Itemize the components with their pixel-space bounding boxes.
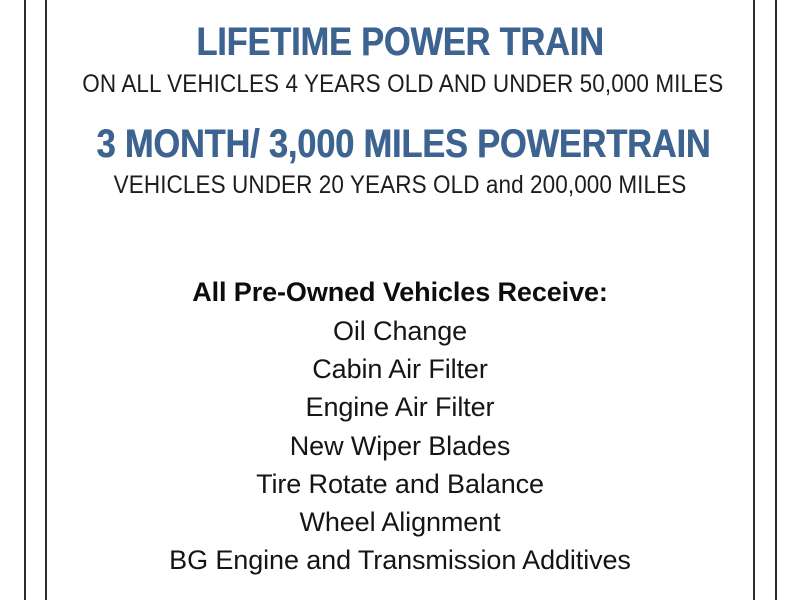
lifetime-powertrain-subline: ON ALL VEHICLES 4 YEARS OLD AND UNDER 50… bbox=[82, 70, 717, 98]
list-item: BG Engine and Transmission Additives bbox=[47, 541, 753, 579]
service-list: Oil Change Cabin Air Filter Engine Air F… bbox=[47, 312, 753, 580]
lifetime-powertrain-headline: LIFETIME POWER TRAIN bbox=[96, 22, 703, 64]
list-item: Oil Change bbox=[47, 312, 753, 350]
three-month-powertrain-subline: VEHICLES UNDER 20 YEARS OLD and 200,000 … bbox=[82, 171, 717, 199]
warranty-flyer: LIFETIME POWER TRAIN ON ALL VEHICLES 4 Y… bbox=[0, 0, 800, 600]
left-outer-rule bbox=[24, 0, 26, 600]
warranty-block-3month: 3 MONTH/ 3,000 MILES POWERTRAIN VEHICLES… bbox=[47, 98, 753, 200]
right-inner-rule bbox=[753, 0, 755, 600]
list-item: New Wiper Blades bbox=[47, 427, 753, 465]
warranty-block-lifetime: LIFETIME POWER TRAIN ON ALL VEHICLES 4 Y… bbox=[47, 0, 753, 98]
three-month-powertrain-headline: 3 MONTH/ 3,000 MILES POWERTRAIN bbox=[96, 124, 703, 166]
content-column: LIFETIME POWER TRAIN ON ALL VEHICLES 4 Y… bbox=[47, 0, 753, 600]
list-item: Cabin Air Filter bbox=[47, 350, 753, 388]
list-item: Engine Air Filter bbox=[47, 388, 753, 426]
services-section: All Pre-Owned Vehicles Receive: Oil Chan… bbox=[47, 273, 753, 580]
services-title: All Pre-Owned Vehicles Receive: bbox=[47, 273, 753, 311]
right-outer-rule bbox=[775, 0, 777, 600]
list-item: Tire Rotate and Balance bbox=[47, 465, 753, 503]
list-item: Wheel Alignment bbox=[47, 503, 753, 541]
